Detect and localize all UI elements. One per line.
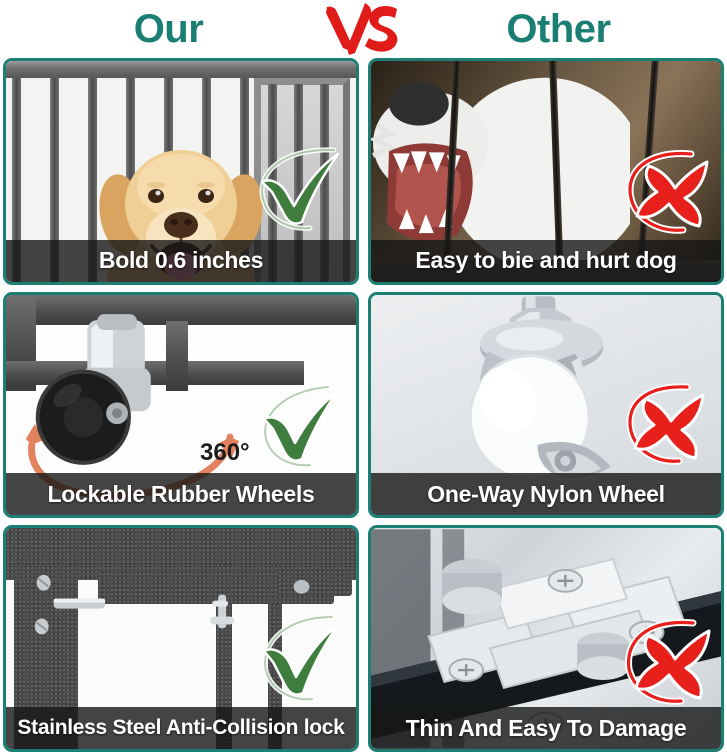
vs-logo-icon xyxy=(319,1,409,57)
panel-other-bar-thickness: Easy to bie and hurt dog xyxy=(368,58,724,285)
our-heading: Our xyxy=(19,9,319,49)
caption-bar: Thin And Easy To Damage xyxy=(371,707,721,749)
header: Our Other xyxy=(0,0,727,58)
wheel-rotation-label: 360° xyxy=(200,439,250,467)
cross-icon xyxy=(621,381,713,469)
caption-bar: Bold 0.6 inches xyxy=(6,240,356,282)
panel-our-lock: Stainless Steel Anti-Collision lock xyxy=(3,525,359,752)
caption-bar: Lockable Rubber Wheels xyxy=(6,473,356,515)
caption-bar: Easy to bie and hurt dog xyxy=(371,240,721,282)
comparison-infographic: Our Other xyxy=(0,0,727,755)
check-icon xyxy=(250,381,346,471)
caption-bar: Stainless Steel Anti-Collision lock xyxy=(6,707,356,749)
our-heading-text: Our xyxy=(134,7,204,51)
comparison-grid: Bold 0.6 inches xyxy=(3,58,724,752)
panel-our-wheel: 360° Lockable Rubber Wheels xyxy=(3,292,359,519)
caption-text: Bold 0.6 inches xyxy=(99,247,263,274)
caption-text: Stainless Steel Anti-Collision lock xyxy=(17,716,344,740)
caption-text: Thin And Easy To Damage xyxy=(406,715,687,742)
other-heading-text: Other xyxy=(506,7,610,51)
caption-text: Easy to bie and hurt dog xyxy=(415,247,676,274)
cross-icon xyxy=(621,146,717,238)
check-icon xyxy=(246,140,350,236)
caption-bar: One-Way Nylon Wheel xyxy=(371,473,721,515)
caption-text: One-Way Nylon Wheel xyxy=(427,481,665,508)
panel-other-lock: Thin And Easy To Damage xyxy=(368,525,724,752)
check-icon xyxy=(250,613,348,705)
panel-our-bar-thickness: Bold 0.6 inches xyxy=(3,58,359,285)
panel-other-wheel: One-Way Nylon Wheel xyxy=(368,292,724,519)
other-heading: Other xyxy=(409,9,709,49)
cross-icon xyxy=(619,615,719,709)
caption-text: Lockable Rubber Wheels xyxy=(48,481,315,508)
